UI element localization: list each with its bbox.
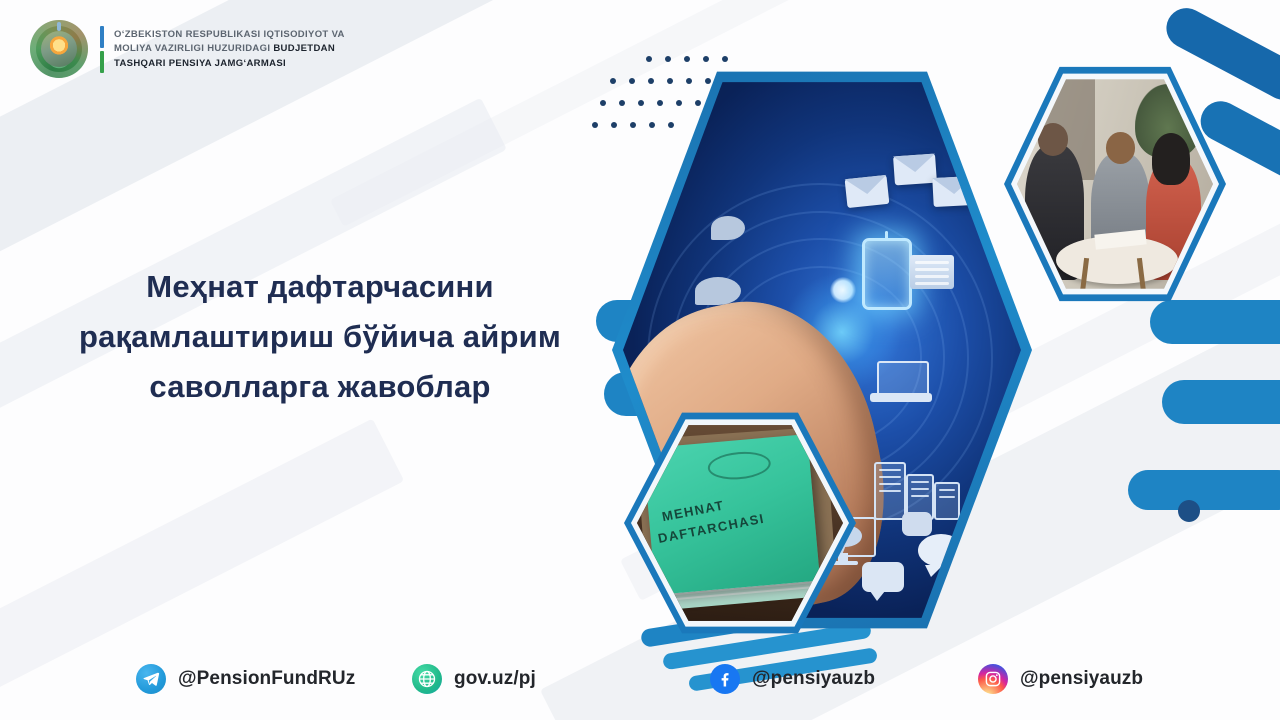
social-label: @pensiyauzb [1020, 668, 1143, 690]
grid-dot [592, 122, 598, 128]
envelope-icon [893, 153, 937, 185]
decor-bar-right [1128, 470, 1280, 510]
decor-bar-right [1150, 300, 1280, 344]
uzbekistan-state-emblem-icon [30, 20, 88, 78]
laptop-icon [870, 361, 932, 405]
brand-line-3: TASHQARI PENSIYA JAMG‘ARMASI [114, 57, 345, 70]
headline-line-2: рақамлаштириш бўйича айрим [40, 312, 600, 362]
instagram-icon [978, 664, 1008, 694]
globe-icon [412, 664, 442, 694]
brand-bar-blue [100, 26, 104, 48]
poster-canvas: O‘ZBEKISTON RESPUBLIKASI IQTISODIYOT VA … [0, 0, 1280, 720]
message-lines-icon [910, 255, 954, 289]
brand-line-2: MOLIYA VAZIRLIGI HUZURIDAGI BUDJETDAN [114, 42, 345, 55]
facebook-icon [710, 664, 740, 694]
book-emblem-icon [707, 450, 772, 483]
consultation-photo-hexagon [1004, 62, 1226, 306]
brand-line-2-normal: MOLIYA VAZIRLIGI HUZURIDAGI [114, 43, 273, 54]
page-title: Меҳнат дафтарчасини рақамлаштириш бўйича… [40, 262, 600, 413]
envelope-icon [844, 175, 889, 208]
server-unit [874, 462, 906, 520]
brand-accent-bars [98, 24, 104, 74]
brand-bar-green [100, 51, 104, 73]
headline-line-3: саволларга жавоблар [40, 362, 600, 412]
labour-book-photo-hexagon: MEHNAT DAFTARCHASI [624, 408, 856, 638]
mobile-phone-icon [862, 238, 912, 310]
social-link-instagram[interactable]: @pensiyauzb [978, 664, 1143, 694]
social-label: @PensionFundRUz [178, 668, 355, 690]
social-link-telegram[interactable]: @PensionFundRUz [136, 664, 355, 694]
organisation-logo: O‘ZBEKISTON RESPUBLIKASI IQTISODIYOT VA … [30, 20, 345, 78]
chat-bubble-icon [862, 562, 904, 592]
laptop-screen [877, 361, 929, 396]
brand-text-block: O‘ZBEKISTON RESPUBLIKASI IQTISODIYOT VA … [114, 28, 345, 69]
telegram-icon [136, 664, 166, 694]
chat-bubble-icon [902, 512, 932, 536]
social-link-website[interactable]: gov.uz/pj [412, 664, 536, 694]
social-link-facebook[interactable]: @pensiyauzb [710, 664, 875, 694]
social-label: gov.uz/pj [454, 668, 536, 690]
chat-bubble-icon [711, 216, 745, 240]
brand-line-1: O‘ZBEKISTON RESPUBLIKASI IQTISODIYOT VA [114, 28, 345, 41]
decor-bar-right [1162, 380, 1280, 424]
social-label: @pensiyauzb [752, 668, 875, 690]
brand-line-2-bold: BUDJETDAN [273, 43, 335, 54]
laptop-base [870, 393, 932, 402]
decor-dot [1178, 500, 1200, 522]
grid-dot [600, 100, 606, 106]
server-unit [934, 482, 960, 520]
social-links-bar: @PensionFundRUz gov.uz/pj @pensiyauzb @p… [0, 656, 1280, 702]
headline-line-1: Меҳнат дафтарчасини [40, 262, 600, 312]
server-rack-icon [874, 462, 960, 520]
